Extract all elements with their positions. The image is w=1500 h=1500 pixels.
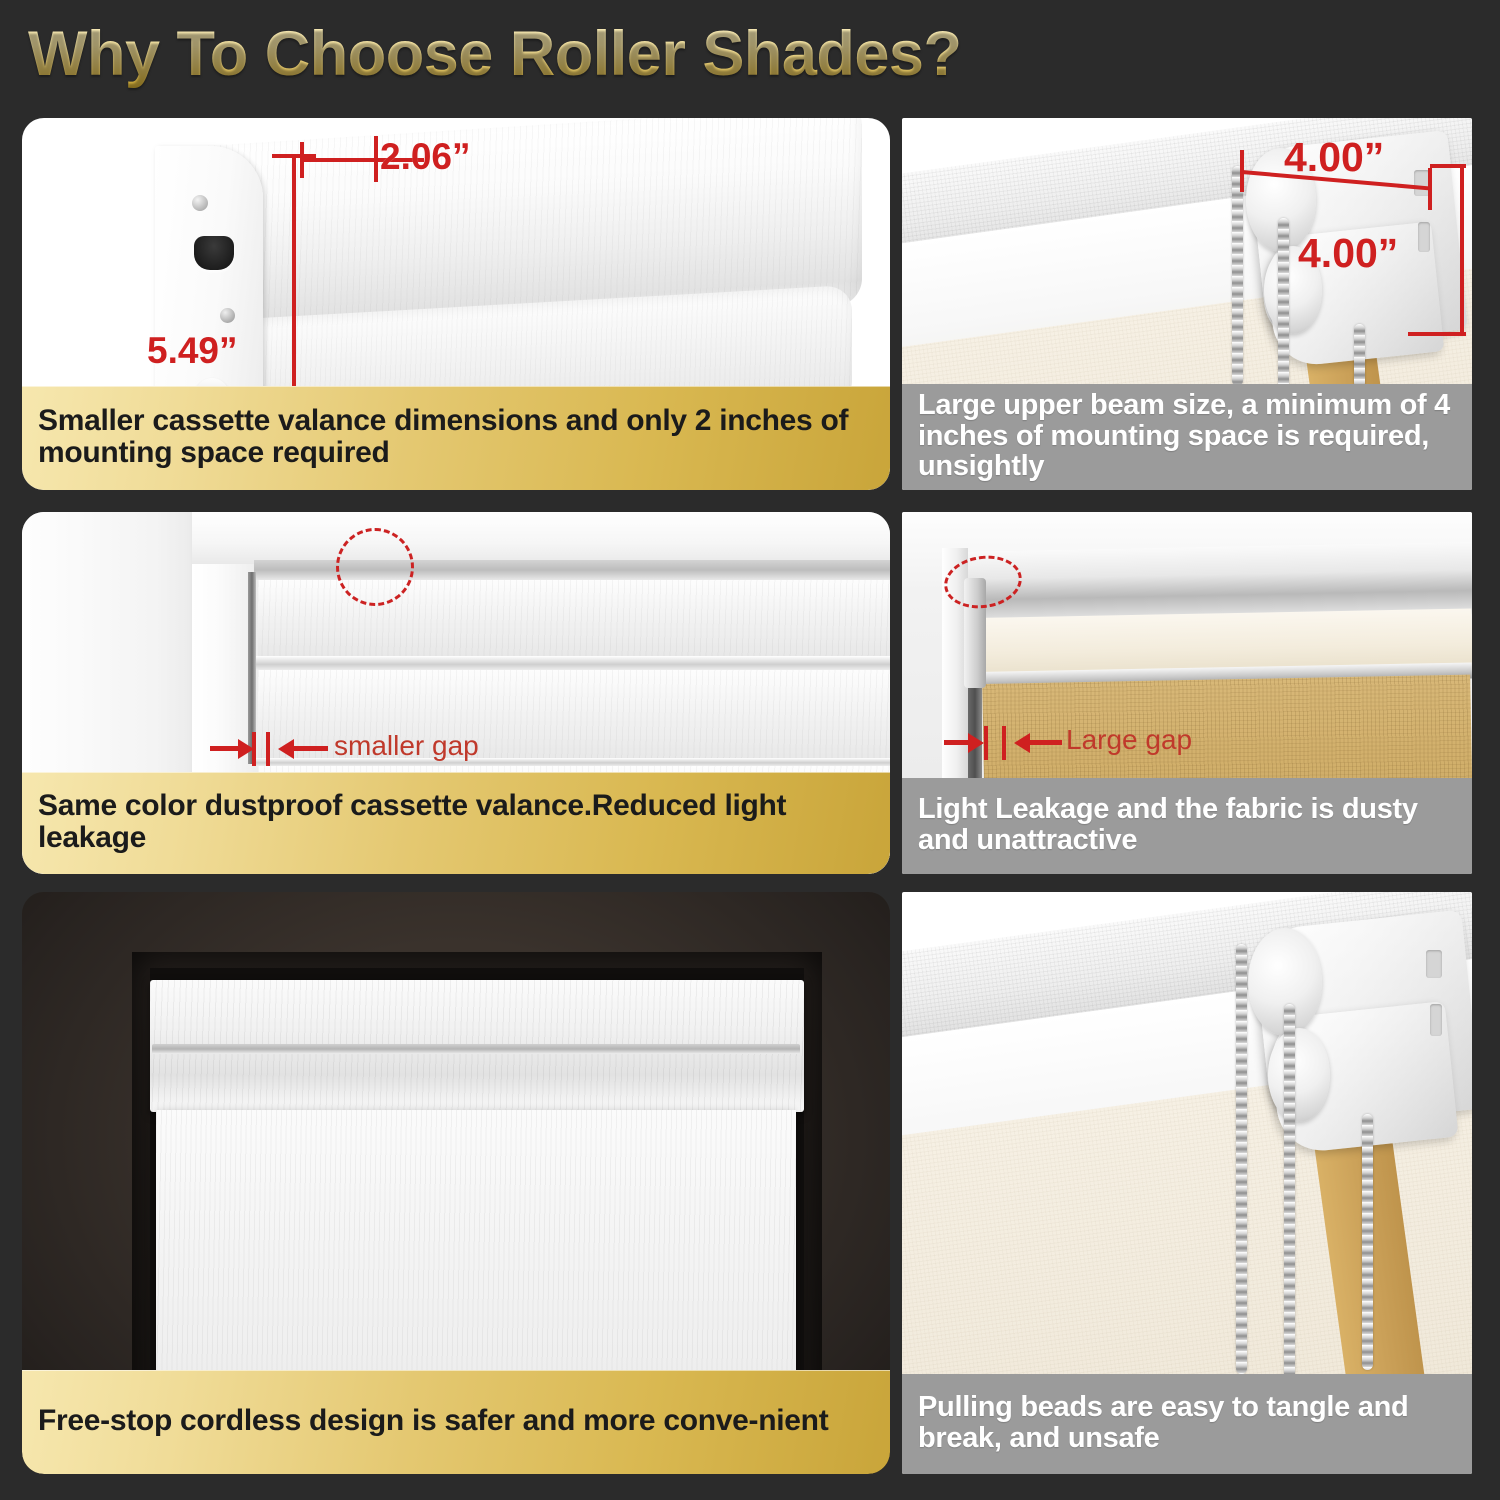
panel-caption: Same color dustproof cassette valance.Re…: [22, 772, 890, 874]
width-dimension-label: 2.06”: [380, 136, 471, 178]
bead-chain: [1236, 944, 1247, 1374]
panel-smaller-cassette: 2.06” 5.49” Smaller cassette valance dim…: [22, 118, 890, 490]
panel-caption: Large upper beam size, a minimum of 4 in…: [902, 384, 1472, 490]
panel-dustproof-valance: smaller gap Same color dustproof cassett…: [22, 512, 890, 874]
gap-arrow-left-head: [968, 733, 984, 753]
dimension-line-height: [1460, 164, 1464, 336]
roller-end-cap-lower: [1268, 1028, 1330, 1122]
dimension-tick-bottom: [1408, 332, 1466, 336]
gap-arrow-right-head: [278, 739, 294, 759]
gap-arrow-right-shaft: [1030, 740, 1062, 745]
valance-groove: [152, 1044, 800, 1054]
bracket-slot-icon: [1418, 222, 1430, 252]
gap-label: Large gap: [1066, 724, 1192, 756]
height-dimension-label: 4.00”: [1298, 230, 1398, 277]
panel-large-upper-beam: 4.00” 4.00” Large upper beam size, a min…: [902, 118, 1472, 490]
panel-caption: Pulling beads are easy to tangle and bre…: [902, 1374, 1472, 1474]
bead-chain: [1278, 218, 1289, 388]
screw-icon: [192, 195, 208, 211]
height-dimension-label: 5.49”: [147, 330, 238, 372]
panel-pulling-beads: Pulling beads are easy to tangle and bre…: [902, 892, 1472, 1474]
gap-bar-right: [266, 732, 270, 766]
roller-shade-fabric: [156, 1110, 796, 1398]
panel-light-leakage: Large gap Light Leakage and the fabric i…: [902, 512, 1472, 874]
dimension-tick-right: [1428, 168, 1432, 210]
screw-icon: [220, 308, 235, 323]
gap-bar-right: [1002, 726, 1006, 760]
panel-caption: Light Leakage and the fabric is dusty an…: [902, 778, 1472, 874]
bead-chain: [1284, 1004, 1295, 1382]
bracket-slot-icon: [1426, 950, 1442, 978]
bead-chain: [1232, 166, 1243, 386]
bead-chain: [1362, 1114, 1373, 1370]
panel-caption: Free-stop cordless design is safer and m…: [22, 1370, 890, 1474]
highlight-circle: [336, 528, 414, 606]
dimension-tick-right: [374, 136, 378, 182]
dimension-tick-top: [272, 154, 316, 158]
gap-bar-left: [252, 732, 256, 766]
gap-label: smaller gap: [334, 730, 479, 762]
dimension-tick-left: [1240, 150, 1244, 192]
panel-caption: Smaller cassette valance dimensions and …: [22, 386, 890, 490]
dimension-tick-left: [300, 142, 304, 178]
bead-chain: [1354, 324, 1365, 388]
width-dimension-label: 4.00”: [1284, 134, 1384, 181]
header: Why To Choose Roller Shades?: [28, 18, 1128, 100]
dimension-tick-top: [1430, 164, 1466, 168]
mid-rail: [254, 656, 890, 670]
panel-cordless-design: Free-stop cordless design is safer and m…: [22, 892, 890, 1474]
bracket-slot: [194, 236, 234, 270]
page-title: Why To Choose Roller Shades?: [28, 18, 1128, 90]
gap-bar-left: [984, 726, 988, 760]
bracket-slot-icon: [1430, 1004, 1442, 1036]
gap-arrow-right-shaft: [294, 746, 328, 751]
gap-arrow-right-head: [1014, 733, 1030, 753]
window-frame-top: [192, 512, 890, 564]
